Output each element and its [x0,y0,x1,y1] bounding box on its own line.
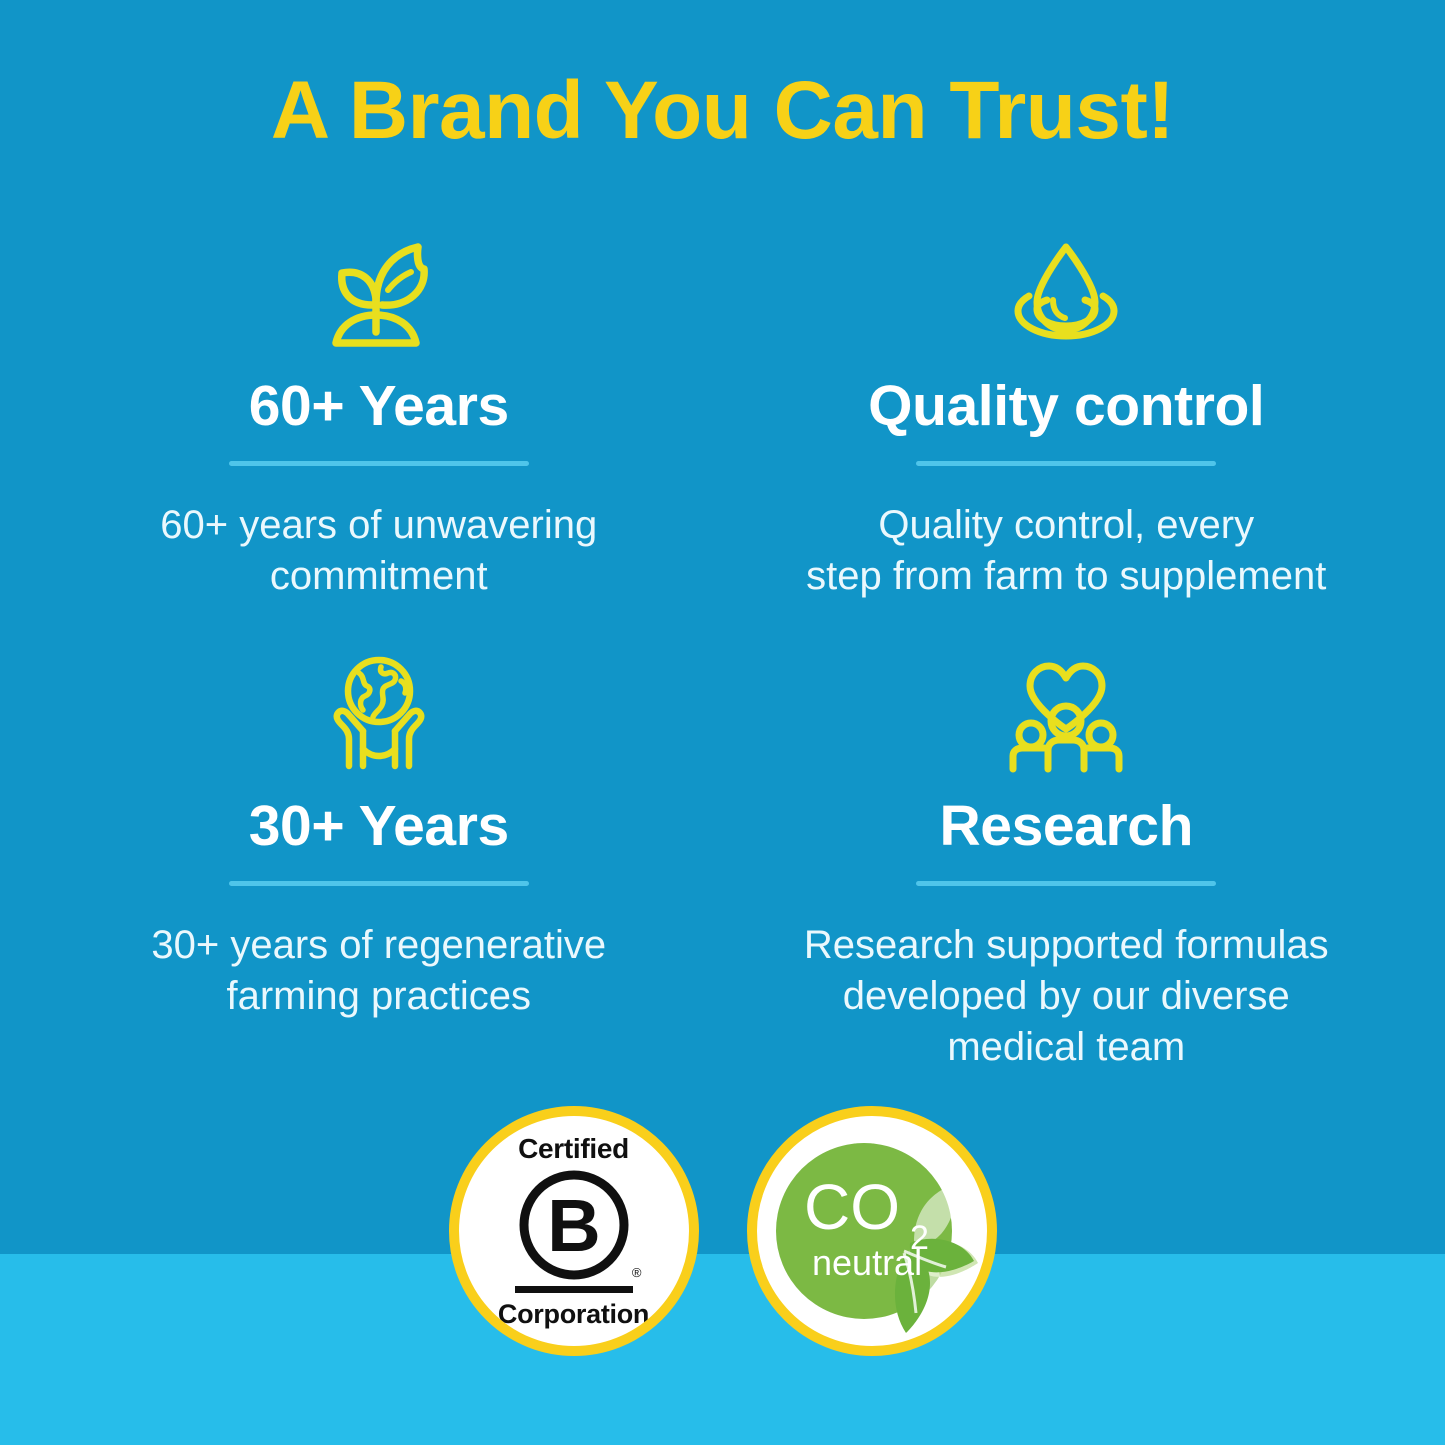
feature-description: Research supported formulas developed by… [804,920,1329,1072]
co2-neutral-logo: CO 2 neutral [764,1123,980,1339]
b-corp-circled-b-icon: B ® [518,1169,630,1281]
feature-description-line: Research supported formulas [804,920,1329,971]
co2-neutral-badge[interactable]: CO 2 neutral [747,1106,997,1356]
feature-description-line: 60+ years of unwavering [160,500,597,551]
feature-title: Quality control [868,377,1264,437]
feature-description-line: medical team [804,1022,1329,1073]
svg-text:B: B [547,1184,600,1267]
feature-description-line: Quality control, every [806,500,1326,551]
feature-description-line: 30+ years of regenerative [151,920,606,971]
b-corp-logo: Certified B ® Corporation [459,1135,689,1328]
trust-badge-poster: A Brand You Can Trust! 60+ Years [0,0,1445,1445]
feature-divider [229,461,529,466]
feature-description-line: developed by our diverse [804,971,1329,1022]
b-corp-divider [515,1286,633,1293]
feature-title: 30+ Years [249,797,509,857]
feature-card-research: Research Research supported formulas dev… [728,645,1406,1072]
feature-card-60-years: 60+ Years 60+ years of unwavering commit… [40,225,718,601]
page-title: A Brand You Can Trust! [0,68,1445,154]
registered-trademark-icon: ® [632,1266,642,1279]
feature-description-line: farming practices [151,971,606,1022]
water-drop-icon [996,225,1136,355]
feature-card-quality-control: Quality control Quality control, every s… [728,225,1406,601]
feature-divider [916,881,1216,886]
feature-title: Research [940,797,1193,857]
certification-badges: Certified B ® Corporation [0,1106,1445,1356]
feature-card-30-years: 30+ Years 30+ years of regenerative farm… [40,645,718,1072]
hands-holding-globe-icon [315,645,443,775]
feature-title: 60+ Years [249,377,509,437]
co2-neutral-text: neutral [812,1242,922,1283]
feature-description-line: step from farm to supplement [806,551,1326,602]
b-corp-certified-label: Certified [518,1135,629,1163]
feature-description: 60+ years of unwavering commitment [160,500,597,602]
sprout-icon [314,225,444,355]
family-heart-icon [1000,645,1132,775]
features-grid: 60+ Years 60+ years of unwavering commit… [40,225,1405,1073]
b-corp-corporation-label: Corporation [498,1301,649,1328]
feature-description: 30+ years of regenerative farming practi… [151,920,606,1022]
feature-divider [229,881,529,886]
b-corp-badge[interactable]: Certified B ® Corporation [449,1106,699,1356]
feature-divider [916,461,1216,466]
feature-description-line: commitment [160,551,597,602]
co2-mark-text: CO [804,1171,900,1243]
feature-description: Quality control, every step from farm to… [806,500,1326,602]
